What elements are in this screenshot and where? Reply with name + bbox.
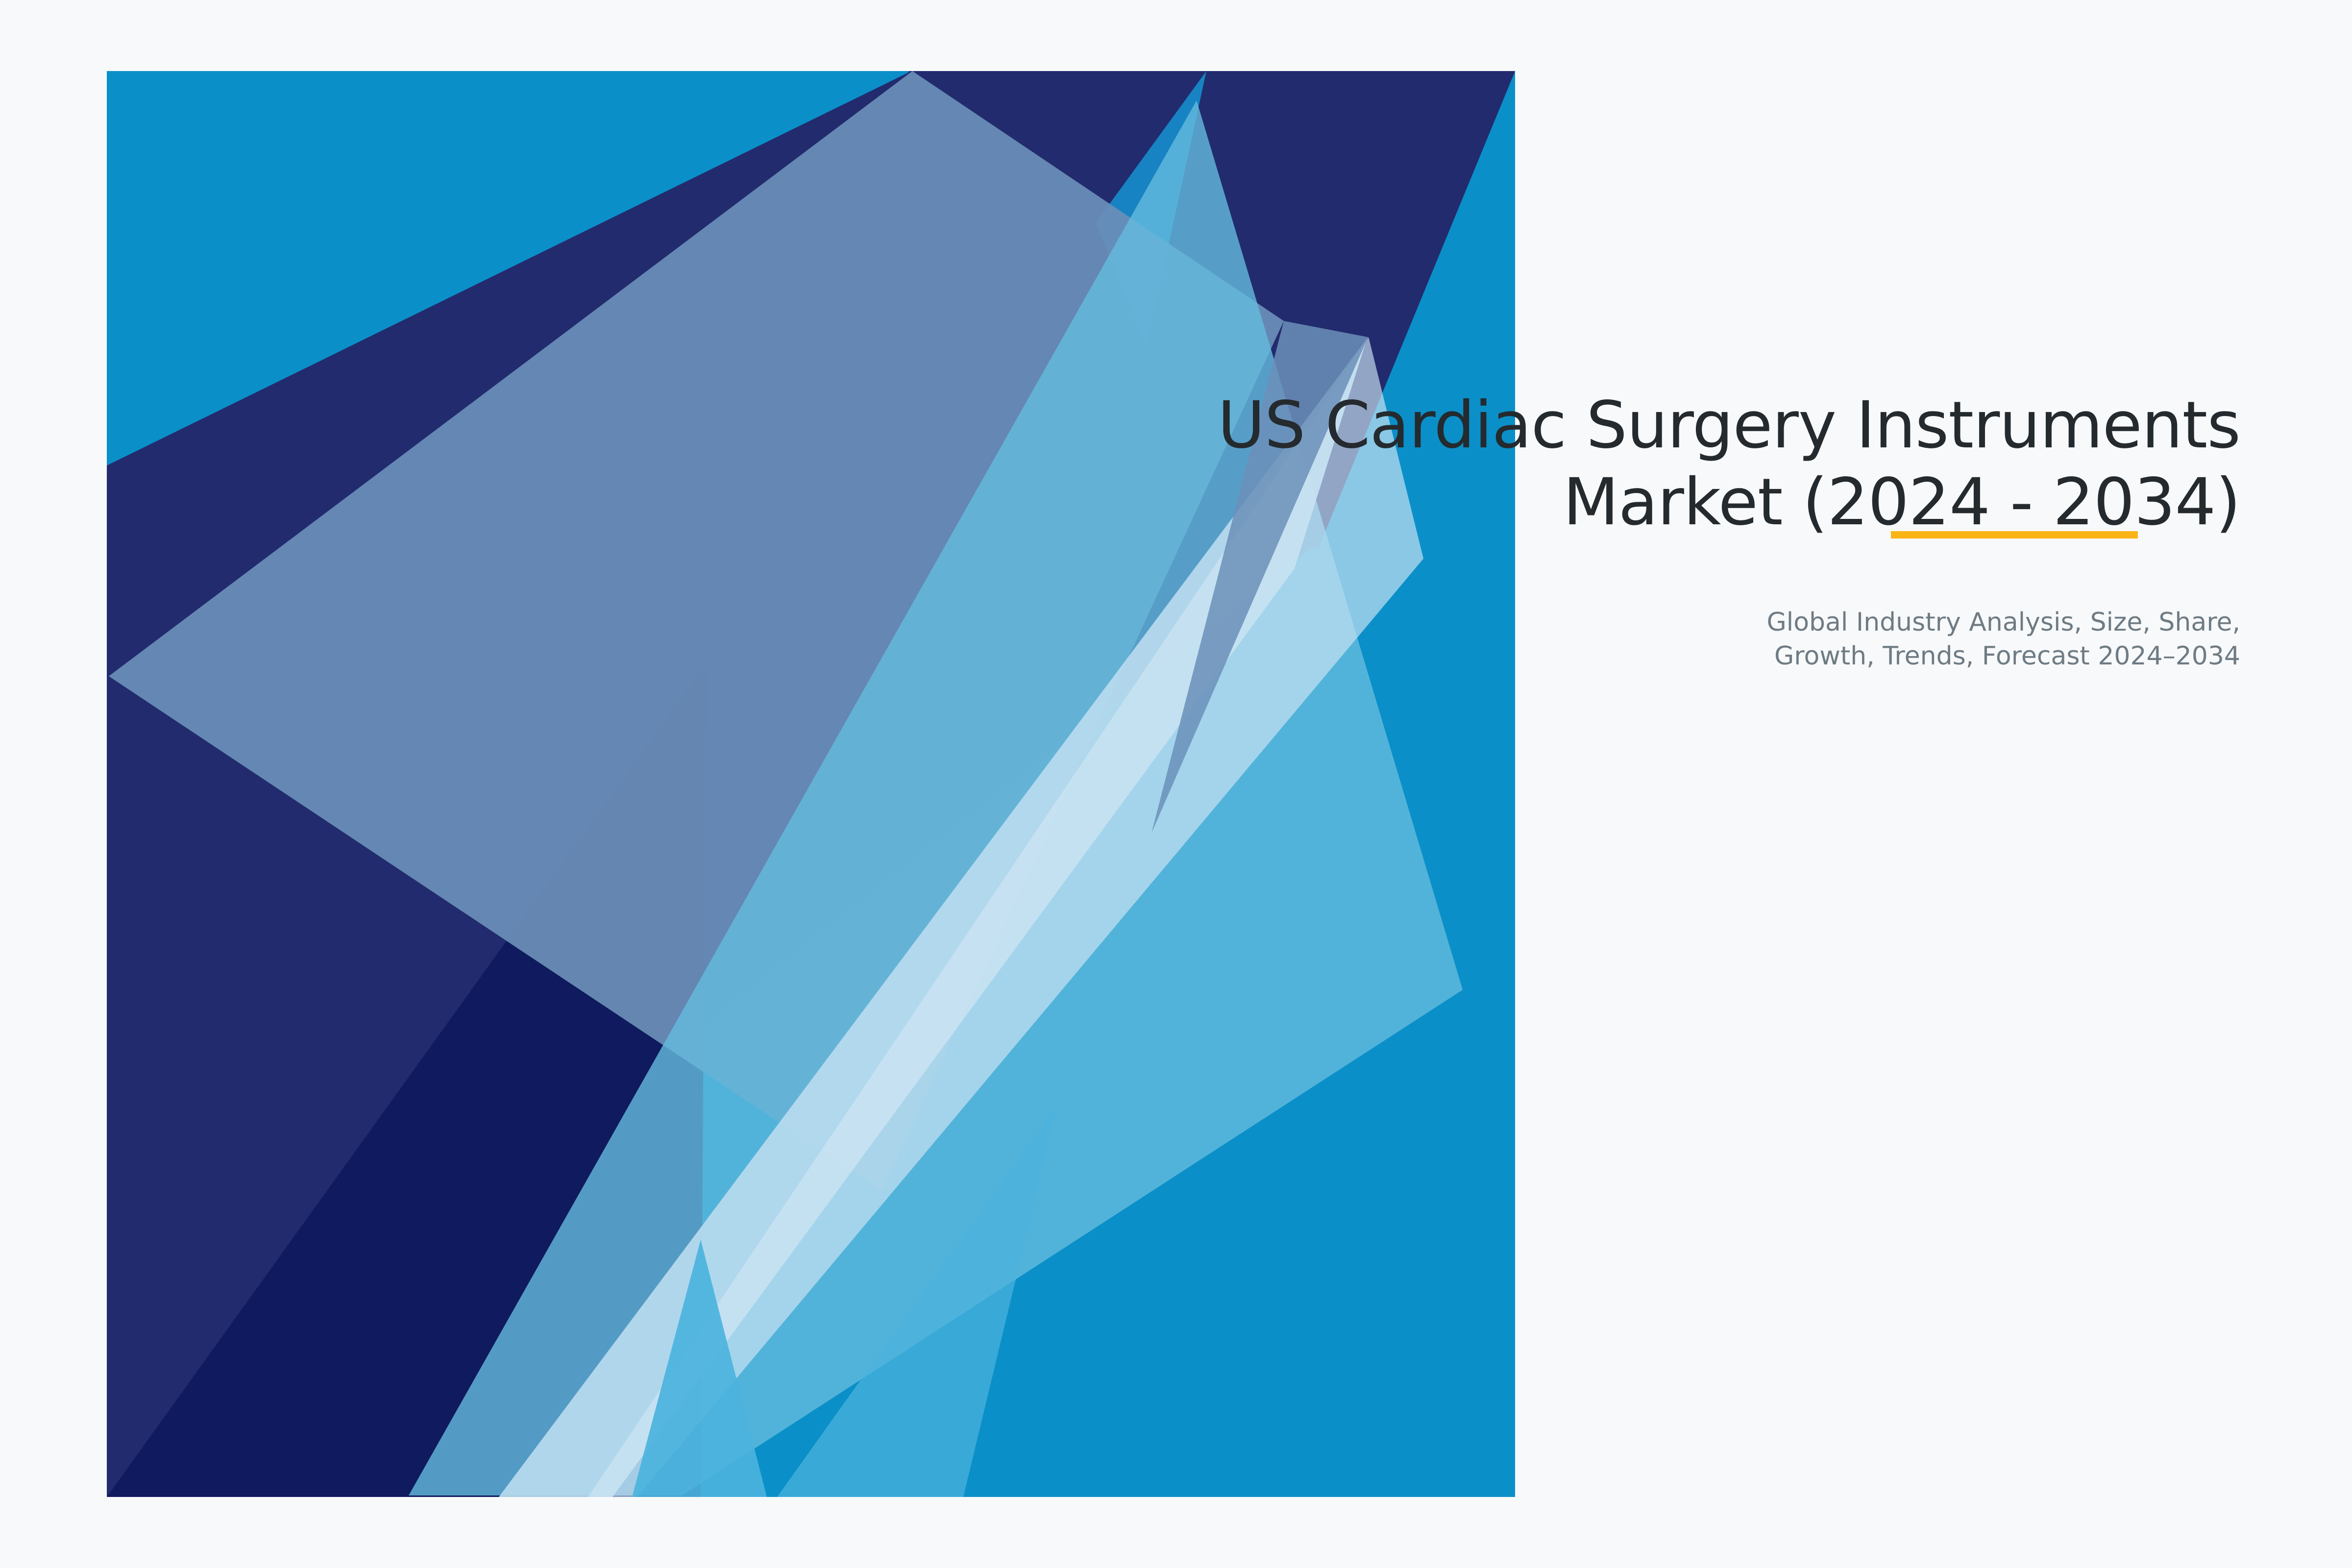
page-title: US Cardiac Surgery Instruments Market (2… — [966, 387, 2240, 541]
title-block: US Cardiac Surgery Instruments Market (2… — [966, 387, 2240, 673]
abstract-polygon-graphic — [0, 0, 2352, 1568]
page-subtitle: Global Industry Analysis, Size, Share, G… — [966, 606, 2240, 673]
title-accent-underline — [1891, 531, 2138, 539]
cover-page: US Cardiac Surgery Instruments Market (2… — [0, 0, 2352, 1568]
